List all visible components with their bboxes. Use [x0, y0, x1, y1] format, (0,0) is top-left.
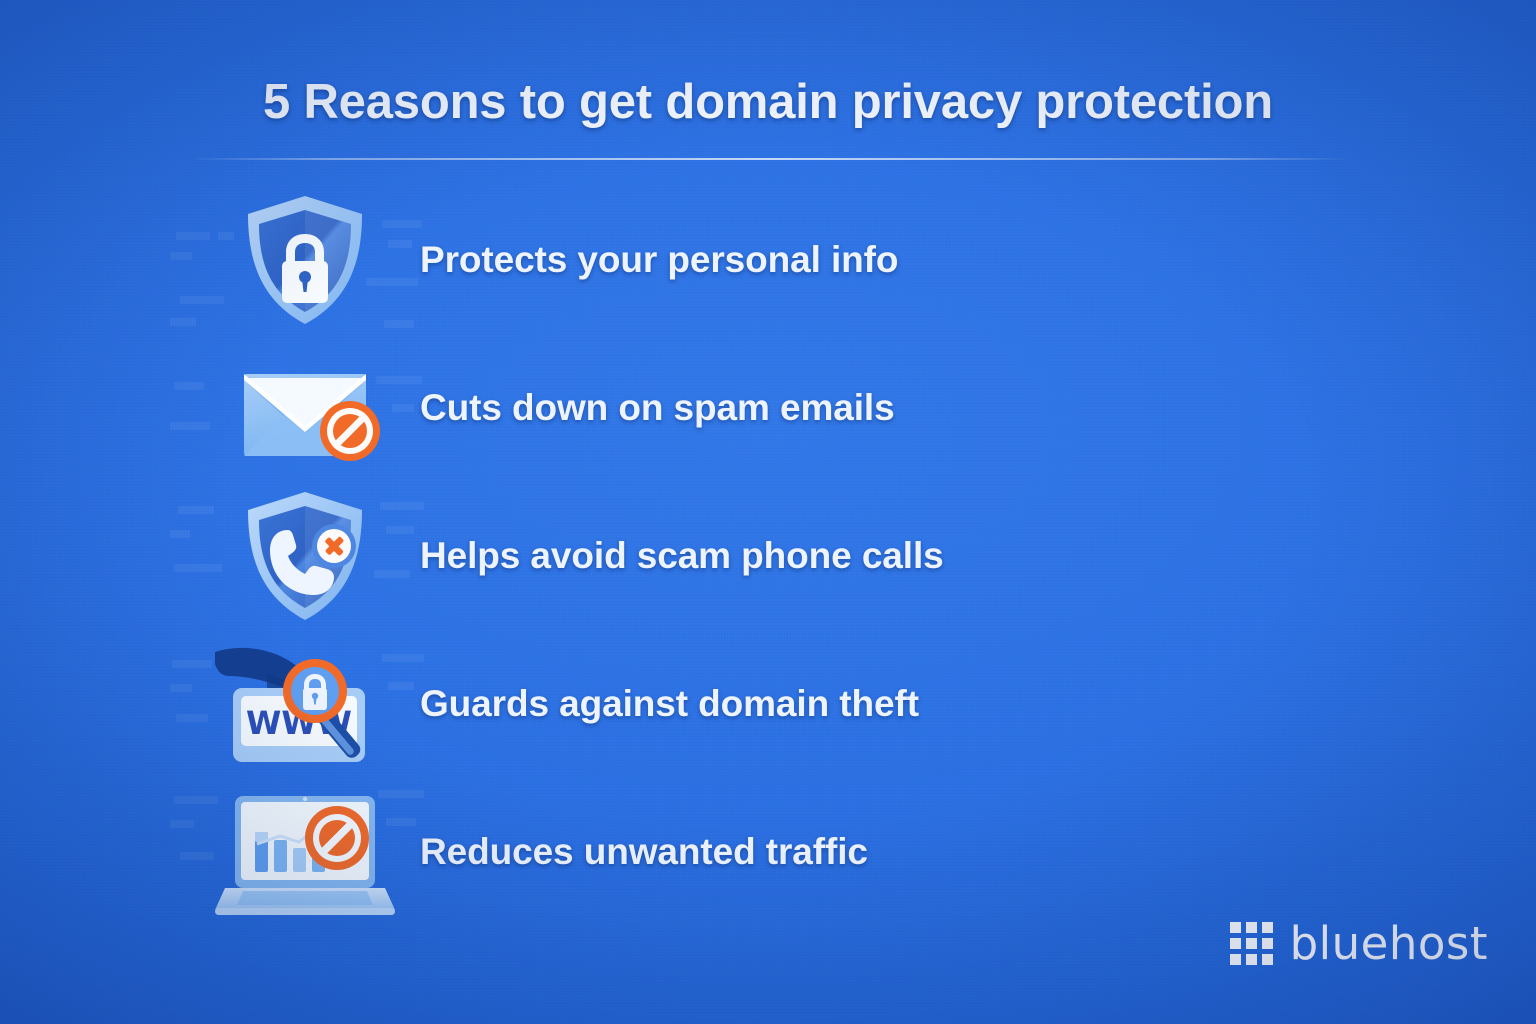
list-item: Reduces unwanted traffic: [190, 778, 1350, 926]
list-item-label: Cuts down on spam emails: [420, 387, 895, 429]
shield-phone-blocked-icon: [210, 482, 400, 630]
infographic-canvas: 5 Reasons to get domain privacy protecti…: [0, 0, 1536, 1024]
list-item: Helps avoid scam phone calls: [190, 482, 1350, 630]
list-item-label: Reduces unwanted traffic: [420, 831, 868, 873]
bluehost-logo[interactable]: bluehost: [1230, 917, 1488, 970]
list-item-label: Guards against domain theft: [420, 683, 919, 725]
hand-grabbing-domain-icon: WWW: [207, 630, 403, 778]
grid-3x3-icon: [1230, 922, 1273, 965]
list-item: Cuts down on spam emails: [190, 334, 1350, 482]
list-item: Protects your personal info: [190, 186, 1350, 334]
blocked-email-icon: [210, 334, 400, 482]
list-item: WWW Guards against domain theft: [190, 630, 1350, 778]
brand-wordmark: bluehost: [1290, 917, 1488, 970]
shield-lock-icon: [210, 186, 400, 334]
title-divider: [196, 158, 1344, 160]
reasons-list: Protects your personal info: [190, 186, 1350, 926]
icon-cell: [190, 334, 420, 482]
icon-cell: WWW: [190, 630, 420, 778]
list-item-label: Helps avoid scam phone calls: [420, 535, 944, 577]
page-title: 5 Reasons to get domain privacy protecti…: [0, 74, 1536, 130]
laptop-blocked-traffic-icon: [207, 778, 403, 926]
icon-cell: [190, 186, 420, 334]
icon-cell: [190, 778, 420, 926]
icon-cell: [190, 482, 420, 630]
list-item-label: Protects your personal info: [420, 239, 898, 281]
